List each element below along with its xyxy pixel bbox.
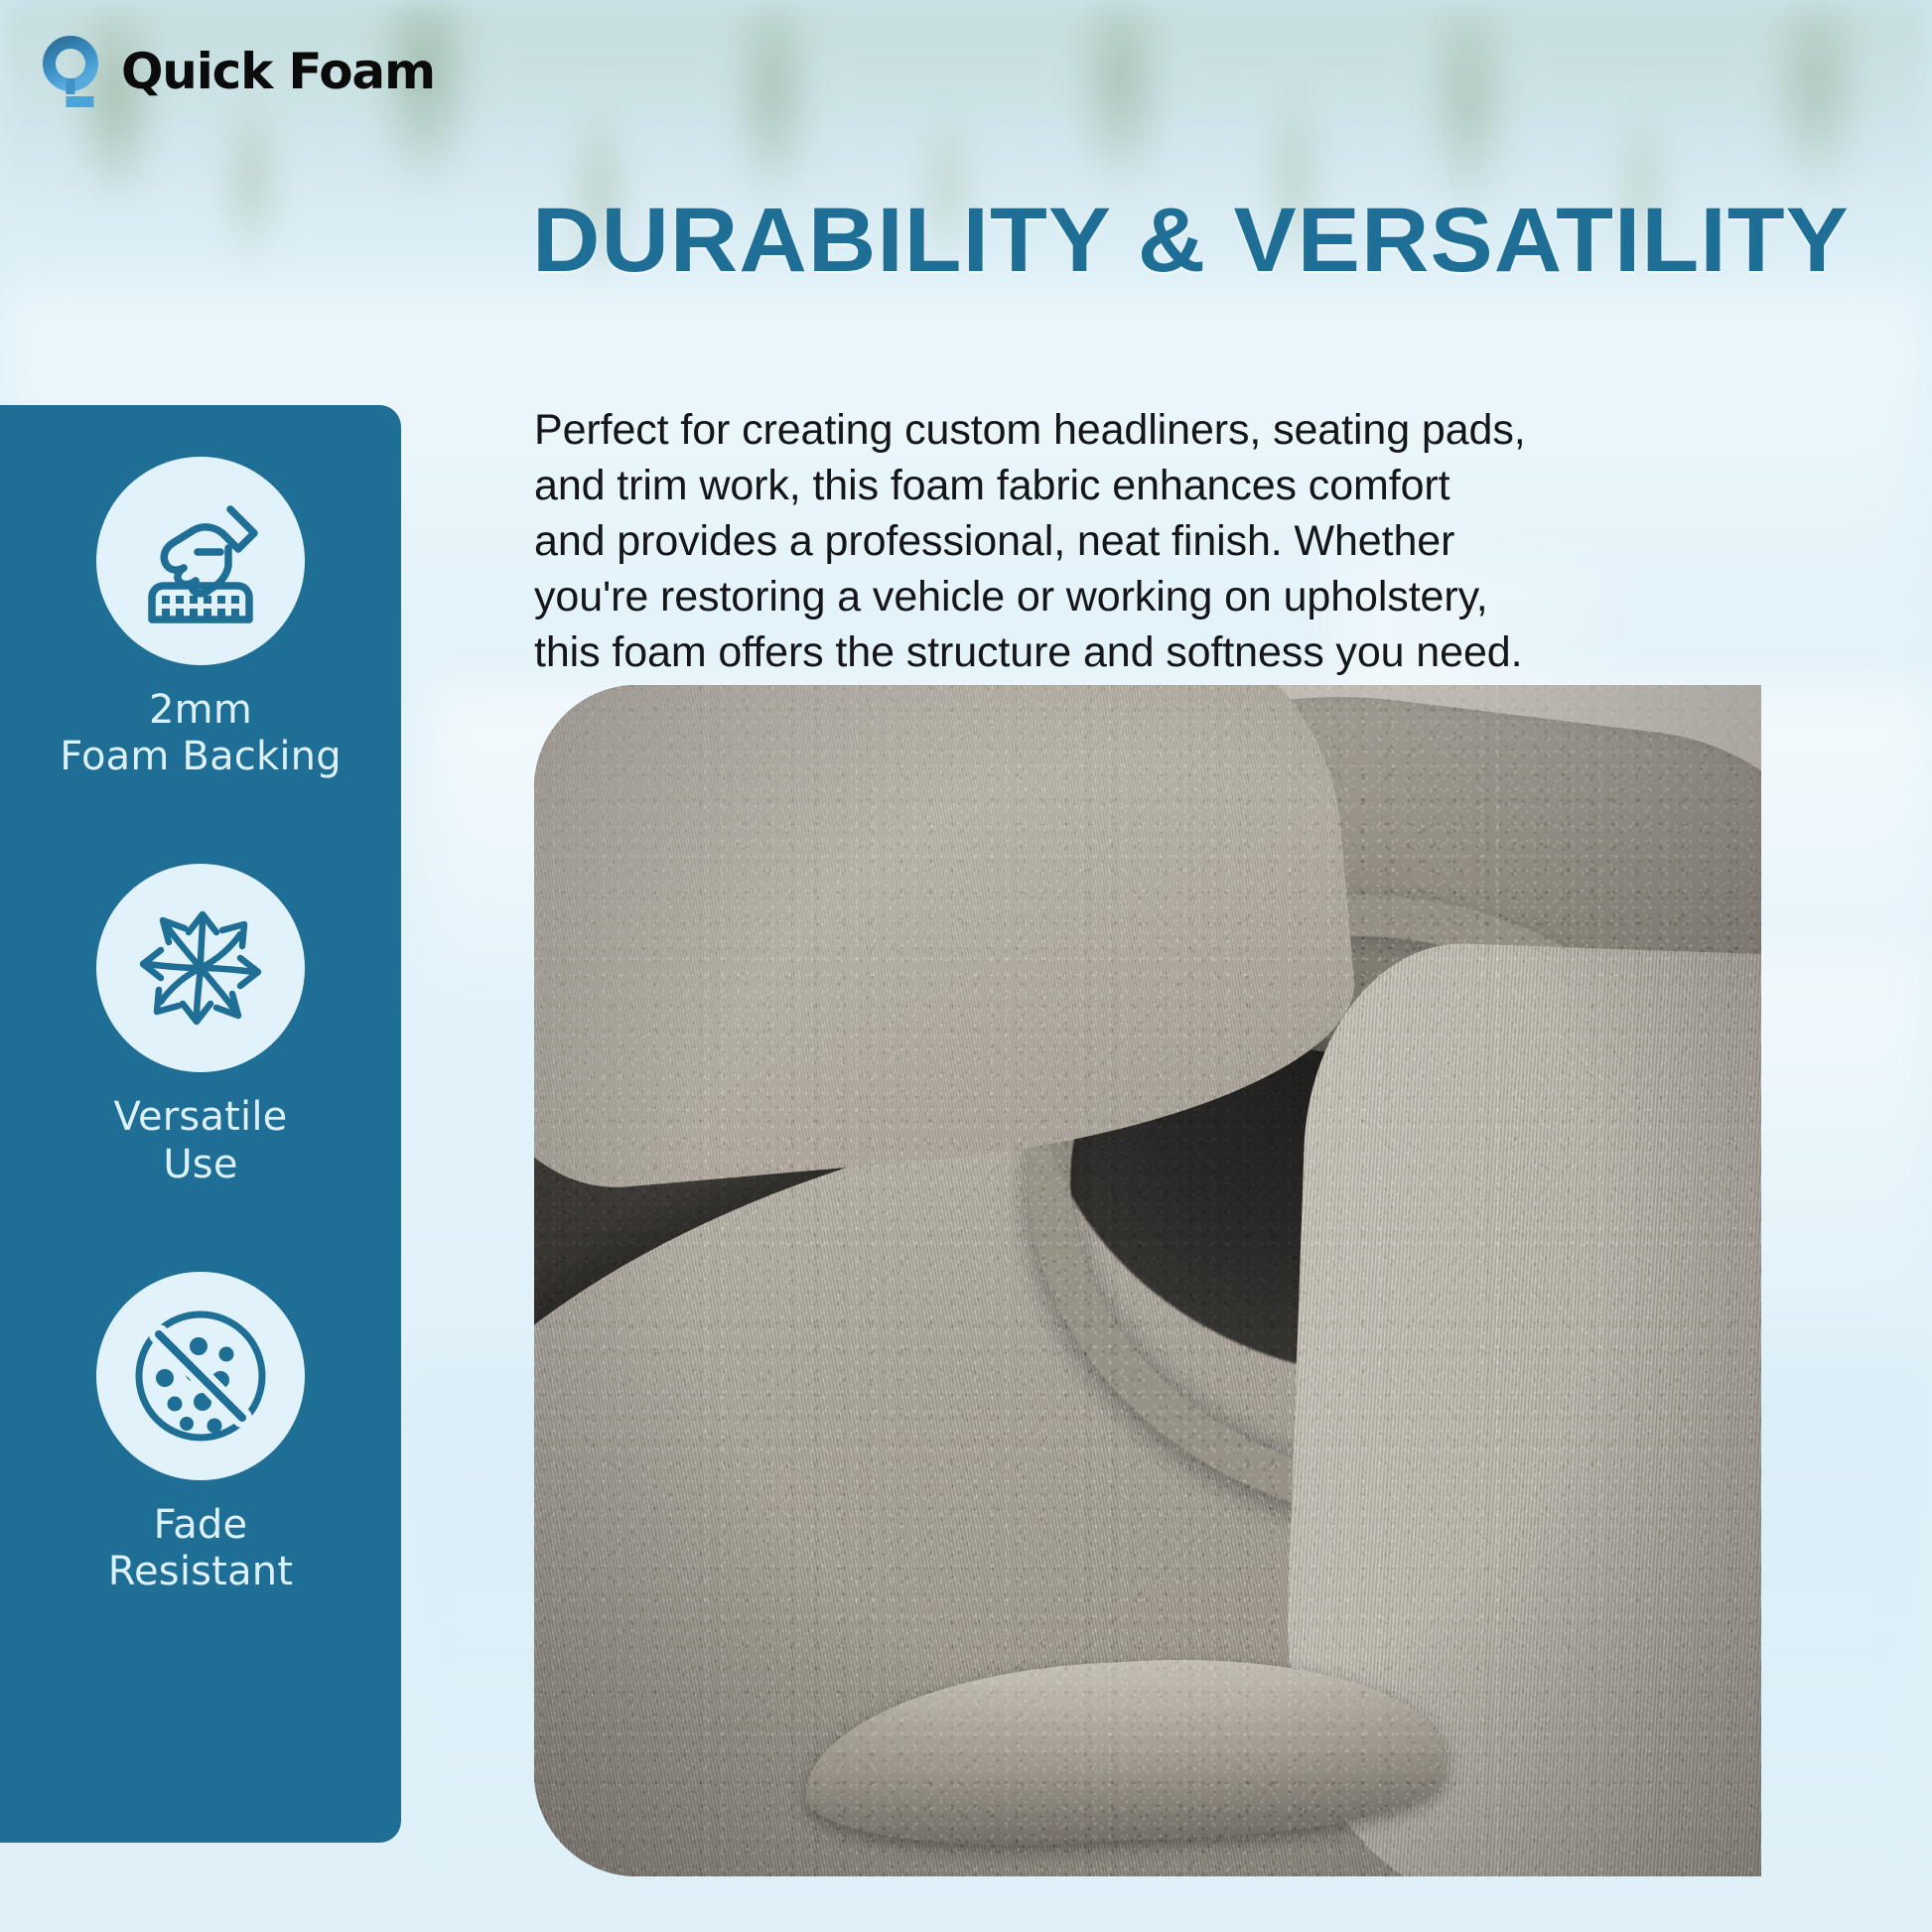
quick-foam-q-logo-icon bbox=[42, 34, 103, 109]
multi-direction-arrows-icon bbox=[96, 864, 305, 1072]
feature-label-fade-resistant: Fade Resistant bbox=[108, 1502, 293, 1595]
feature-item-fade-resistant: Fade Resistant bbox=[0, 1272, 401, 1595]
feature-item-versatile-use: Versatile Use bbox=[0, 864, 401, 1187]
brand-name: Quick Foam bbox=[121, 43, 435, 100]
feature-item-foam-backing: 2mm Foam Backing bbox=[0, 457, 401, 780]
no-fade-dots-icon bbox=[96, 1272, 305, 1480]
product-photo bbox=[534, 685, 1761, 1876]
feature-label-foam-backing: 2mm Foam Backing bbox=[60, 687, 342, 780]
description-paragraph: Perfect for creating custom headliners, … bbox=[534, 403, 1527, 680]
feature-label-versatile-use: Versatile Use bbox=[114, 1094, 288, 1187]
hand-pressing-foam-icon bbox=[96, 457, 305, 665]
page-title: DURABILITY & VERSATILITY bbox=[532, 195, 1932, 286]
brand-logo: Quick Foam bbox=[42, 34, 435, 109]
photo-vignette bbox=[534, 685, 1761, 1876]
features-sidebar: 2mm Foam Backing bbox=[0, 405, 401, 1843]
